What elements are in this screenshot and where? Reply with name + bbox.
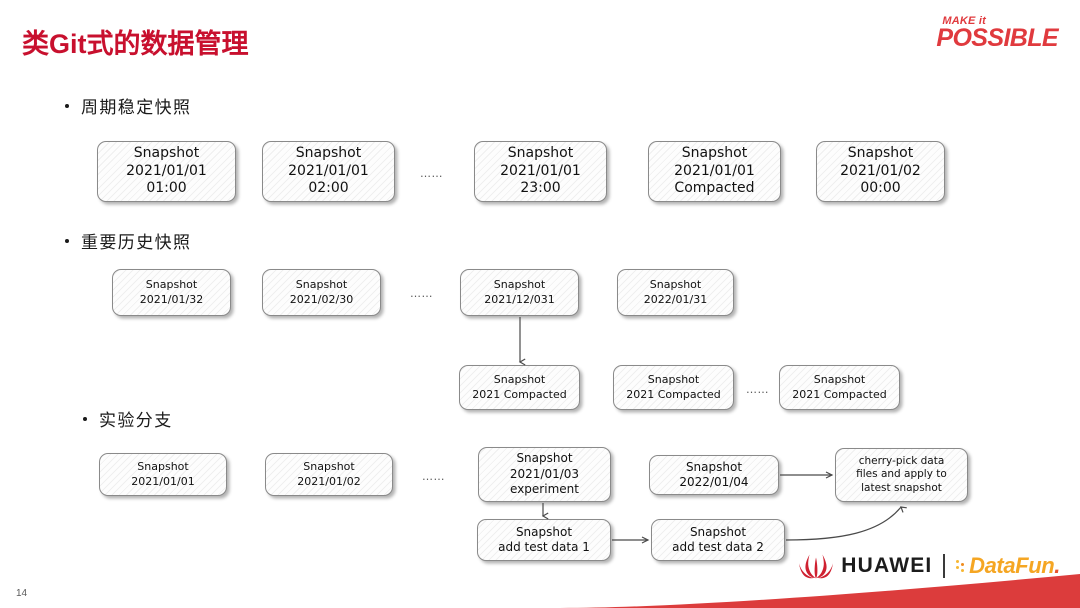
node-line-2: add test data 2 [672,540,764,555]
snapshot-test-data-node[interactable]: Snapshot add test data 2 [651,519,785,561]
snapshot-compacted-node[interactable]: Snapshot 2021 Compacted [779,365,900,410]
make-it-possible-big-text: POSSIBLE [936,26,1058,51]
snapshot-node[interactable]: Snapshot 2021/01/32 [112,269,231,316]
cherry-pick-note-node[interactable]: cherry-pick data files and apply to late… [835,448,968,502]
node-line-2: 2021/01/01 [500,163,581,181]
bullet-label: 重要历史快照 [81,228,191,253]
snapshot-node[interactable]: Snapshot 2022/01/31 [617,269,734,316]
node-line-1: Snapshot [146,278,197,292]
node-line-3: 02:00 [308,180,348,198]
snapshot-node[interactable]: Snapshot 2021/01/01 [99,453,227,496]
snapshot-compacted-node[interactable]: Snapshot 2021 Compacted [459,365,580,410]
node-line-2: 2021/01/01 [131,475,194,489]
node-line-2: 2021/12/031 [484,293,554,307]
snapshot-node[interactable]: Snapshot 2021/12/031 [460,269,579,316]
node-line-2: 2022/01/31 [644,293,707,307]
node-line-3: 00:00 [860,180,900,198]
node-line-2: files and apply to [856,468,947,481]
ellipsis-separator: …… [422,470,445,483]
node-line-1: Snapshot [516,525,572,540]
node-line-1: cherry-pick data [859,455,945,468]
node-line-3: latest snapshot [861,482,942,495]
bullet-label: 实验分支 [99,406,173,431]
snapshot-node[interactable]: Snapshot 2021/01/01 Compacted [648,141,781,202]
node-line-1: Snapshot [516,451,572,466]
snapshot-test-data-node[interactable]: Snapshot add test data 1 [477,519,611,561]
node-line-1: Snapshot [508,145,573,163]
bullet-dot-icon [65,239,69,243]
page-title: 类Git式的数据管理 [22,22,249,61]
node-line-3: 01:00 [146,180,186,198]
node-line-2: 2021 Compacted [792,388,886,402]
node-line-2: 2021 Compacted [626,388,720,402]
node-line-2: add test data 1 [498,540,590,555]
snapshot-node[interactable]: Snapshot 2021/01/01 01:00 [97,141,236,202]
node-line-1: Snapshot [134,145,199,163]
bullet-dot-icon [83,417,87,421]
node-line-1: Snapshot [494,278,545,292]
node-line-2: 2021/02/30 [290,293,353,307]
node-line-3: 23:00 [520,180,560,198]
bullet-label: 周期稳定快照 [81,93,191,118]
node-line-1: Snapshot [690,525,746,540]
snapshot-node[interactable]: Snapshot 2021/02/30 [262,269,381,316]
ellipsis-separator: …… [410,287,433,300]
node-line-1: Snapshot [296,145,361,163]
node-line-2: 2022/01/04 [679,475,748,490]
connector-testdata2-to-cherrypick-curve [786,507,901,540]
snapshot-node[interactable]: Snapshot 2021/01/02 [265,453,393,496]
ellipsis-separator: …… [420,167,443,180]
node-line-2: 2021 Compacted [472,388,566,402]
snapshot-compacted-node[interactable]: Snapshot 2021 Compacted [613,365,734,410]
node-line-1: Snapshot [814,373,865,387]
snapshot-node[interactable]: Snapshot 2021/01/02 00:00 [816,141,945,202]
node-line-1: Snapshot [686,460,742,475]
node-line-1: Snapshot [494,373,545,387]
node-line-2: 2021/01/32 [140,293,203,307]
node-line-3: Compacted [674,180,754,198]
bullet-heading-experiment-branch: 实验分支 [80,406,173,431]
node-line-2: 2021/01/03 [510,467,579,482]
make-it-possible-logo: MAKE it POSSIBLE [936,16,1058,51]
node-line-1: Snapshot [296,278,347,292]
node-line-2: 2021/01/02 [297,475,360,489]
node-line-1: Snapshot [650,278,701,292]
node-line-2: 2021/01/01 [126,163,207,181]
footer-swoosh-decoration [560,572,1080,608]
bullet-dot-icon [65,104,69,108]
slide-canvas: 类Git式的数据管理 MAKE it POSSIBLE 周期稳定快照 Snaps… [0,0,1080,608]
snapshot-node[interactable]: Snapshot 2022/01/04 [649,455,779,495]
node-line-2: 2021/01/01 [288,163,369,181]
node-line-3: experiment [510,482,579,497]
node-line-1: Snapshot [682,145,747,163]
bullet-heading-important-history-snapshot: 重要历史快照 [62,228,191,253]
node-line-1: Snapshot [303,460,354,474]
snapshot-experiment-node[interactable]: Snapshot 2021/01/03 experiment [478,447,611,502]
node-line-1: Snapshot [648,373,699,387]
node-line-1: Snapshot [137,460,188,474]
bullet-heading-periodic-snapshot: 周期稳定快照 [62,93,191,118]
node-line-1: Snapshot [848,145,913,163]
node-line-2: 2021/01/01 [674,163,755,181]
snapshot-node[interactable]: Snapshot 2021/01/01 23:00 [474,141,607,202]
ellipsis-separator: …… [746,383,769,396]
node-line-2: 2021/01/02 [840,163,921,181]
snapshot-node[interactable]: Snapshot 2021/01/01 02:00 [262,141,395,202]
page-number: 14 [16,588,27,599]
